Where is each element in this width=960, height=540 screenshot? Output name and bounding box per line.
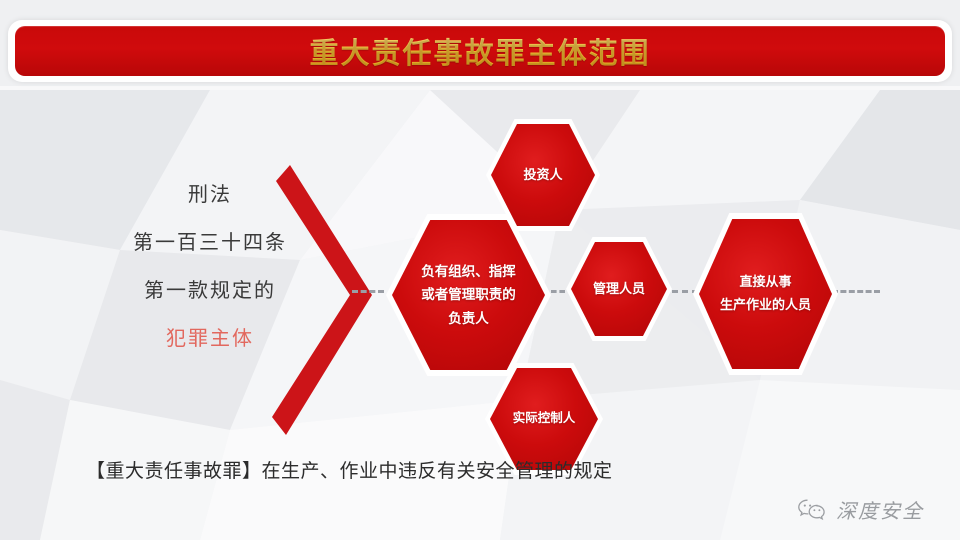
hexagon-investor-label: 投资人 (523, 164, 562, 187)
hexagon-actual-controller[interactable]: 实际控制人 (490, 368, 598, 470)
chevron-right-icon (272, 165, 392, 435)
wechat-icon (797, 498, 827, 522)
connector-dashed-right (832, 290, 880, 293)
hexagon-operator[interactable]: 直接从事 生产作业的人员 (699, 219, 832, 369)
connector-dashed-left (352, 290, 384, 293)
hexagon-management[interactable]: 管理人员 (571, 242, 667, 336)
page-title: 重大责任事故罪主体范围 (309, 30, 650, 72)
title-banner: 重大责任事故罪主体范围 (8, 20, 952, 82)
watermark-label: 深度安全 (836, 495, 924, 524)
title-banner-fill: 重大责任事故罪主体范围 (15, 26, 945, 76)
slide-canvas: 重大责任事故罪主体范围 刑法 第一百三十四条 第一款规定的 犯罪主体 投资人 负… (0, 0, 960, 540)
bottom-caption: 【重大责任事故罪】在生产、作业中违反有关安全管理的规定 (86, 456, 613, 483)
hexagon-actual-controller-label: 实际控制人 (513, 408, 576, 430)
hexagon-responsible-person[interactable]: 负有组织、指挥 或者管理职责的 负责人 (392, 220, 545, 370)
watermark: 深度安全 (797, 495, 924, 524)
connector-dashed-mid-1 (551, 290, 565, 293)
hexagon-operator-label: 直接从事 生产作业的人员 (720, 271, 811, 317)
hexagon-management-label: 管理人员 (593, 278, 645, 301)
hexagon-responsible-person-label: 负有组织、指挥 或者管理职责的 负责人 (421, 260, 516, 331)
hexagon-investor[interactable]: 投资人 (491, 124, 595, 226)
